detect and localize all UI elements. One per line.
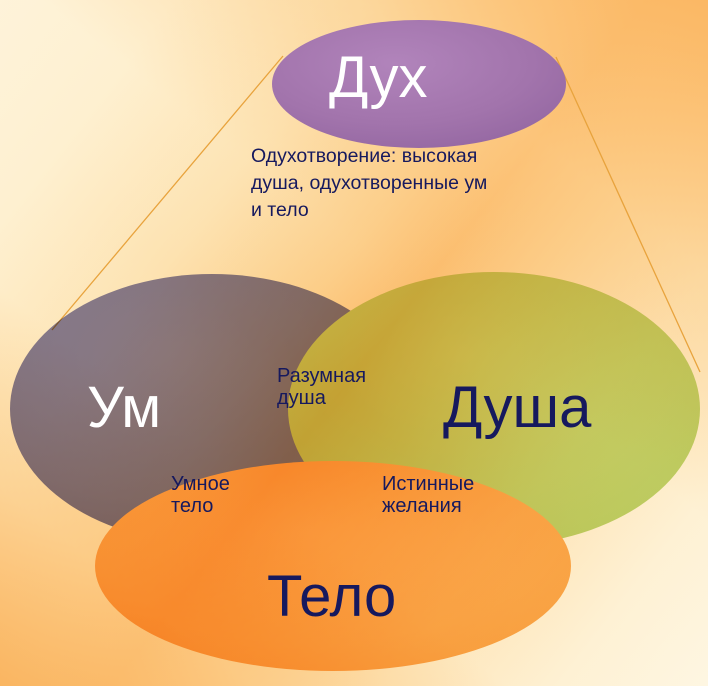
venn-labels: Дух Одухотворение: высокая душа, одухотв… xyxy=(0,0,708,686)
label-soul-body-intersection: Истинные желания xyxy=(382,473,532,518)
label-mind-body-intersection: Умное тело xyxy=(171,473,311,518)
label-mind: Ум xyxy=(87,376,161,441)
label-mind-soul-intersection: Разумная душа xyxy=(277,365,417,410)
description-spirit: Одухотворение: высокая душа, одухотворен… xyxy=(251,143,581,224)
venn-diagram-canvas: Дух Одухотворение: высокая душа, одухотв… xyxy=(0,0,708,686)
label-body: Тело xyxy=(267,565,396,630)
label-spirit: Дух xyxy=(329,46,428,111)
label-soul: Душа xyxy=(443,376,591,441)
